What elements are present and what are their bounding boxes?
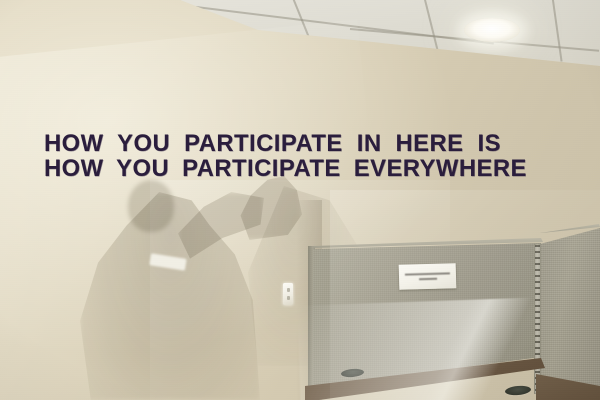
sign-text-line	[405, 272, 450, 275]
ceiling-tile-seam	[551, 0, 562, 62]
switch-slot	[287, 296, 290, 300]
connector-slot-strip	[535, 245, 540, 393]
wall-quote-line-1: HOW YOU PARTICIPATE IN HERE IS	[44, 131, 559, 156]
ceiling-tile-seam	[423, 0, 439, 53]
wall-quote-line-2: HOW YOU PARTICIPATE EVERYWHERE	[44, 156, 559, 181]
cubicle-panel-connector-post	[534, 244, 541, 394]
cubicle-partition-right	[540, 228, 600, 400]
posted-paper-sign	[399, 263, 457, 290]
wall-quote-text: HOW YOU PARTICIPATE IN HERE IS HOW YOU P…	[44, 131, 564, 181]
recessed-ceiling-light	[464, 18, 520, 42]
wall-switch-plate[interactable]	[283, 283, 293, 305]
photo-scene: HOW YOU PARTICIPATE IN HERE IS HOW YOU P…	[0, 0, 600, 400]
switch-slot	[287, 288, 290, 292]
sign-text-line	[419, 278, 437, 280]
partition-fabric-texture	[540, 228, 600, 400]
